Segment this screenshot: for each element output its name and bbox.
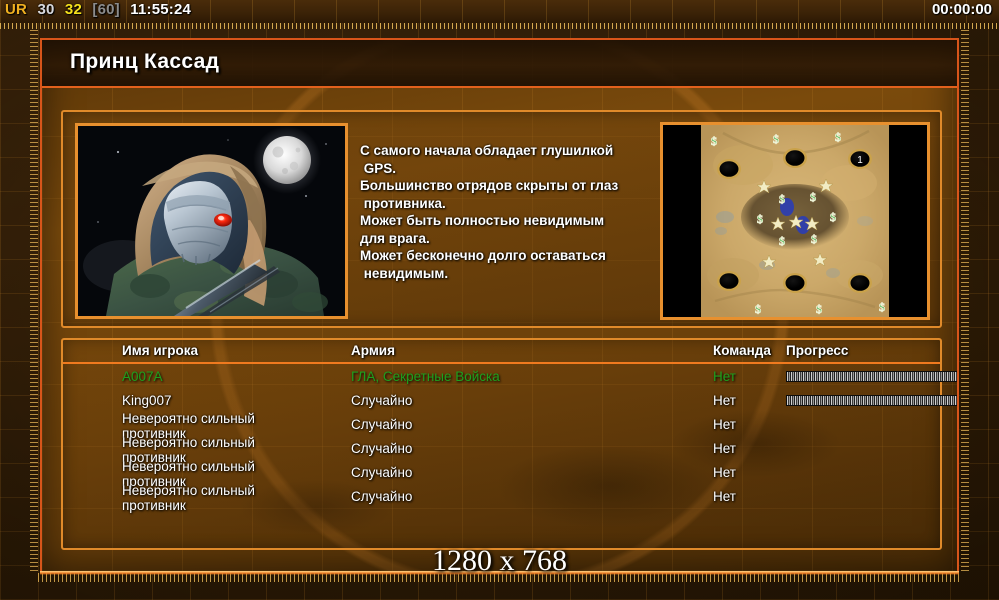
page-title: Принц Кассад: [70, 50, 219, 74]
cell-army: Случайно: [351, 465, 412, 480]
top-ruler-decoration: [0, 23, 999, 29]
svg-text:$: $: [810, 190, 816, 204]
svg-text:$: $: [830, 210, 836, 224]
cell-army: Случайно: [351, 441, 412, 456]
general-description: С самого начала обладает глушилкой GPS. …: [360, 142, 660, 282]
description-line: Может быть полностью невидимым: [360, 212, 660, 230]
right-ruler-decoration: [961, 29, 969, 571]
svg-text:$: $: [779, 234, 785, 248]
description-line: для врага.: [360, 230, 660, 248]
elapsed-timer: 00:00:00: [932, 1, 992, 18]
system-clock: 11:55:24: [130, 1, 191, 18]
description-line: GPS.: [360, 160, 660, 178]
svg-text:$: $: [835, 130, 841, 144]
svg-text:$: $: [811, 232, 817, 246]
svg-text:$: $: [879, 300, 885, 314]
svg-text:$: $: [755, 302, 761, 316]
ur-label: UR: [5, 1, 27, 18]
header-player-name: Имя игрока: [122, 343, 198, 358]
cell-team: Нет: [713, 417, 736, 432]
general-info-panel: С самого начала обладает глушилкой GPS. …: [61, 110, 942, 328]
header-army: Армия: [351, 343, 395, 358]
loading-window: Принц Кассад: [40, 38, 959, 573]
svg-text:$: $: [816, 302, 822, 316]
cell-team: Нет: [713, 369, 736, 384]
window-titlebar: Принц Кассад: [42, 40, 957, 88]
player-list-panel: Имя игрока Армия Команда Прогресс A007AГ…: [61, 338, 942, 550]
player-table-header: Имя игрока Армия Команда Прогресс: [63, 340, 940, 364]
left-ruler-decoration: [30, 29, 38, 571]
description-line: противника.: [360, 195, 660, 213]
svg-text:$: $: [757, 212, 763, 226]
start-position-number: 1: [857, 155, 863, 166]
progress-bar: [786, 395, 959, 406]
table-row[interactable]: Невероятно сильный противникСлучайноНет: [63, 486, 940, 510]
general-portrait: [75, 123, 348, 319]
description-line: Может бесконечно долго оставаться: [360, 247, 660, 265]
table-row[interactable]: A007AГЛА, Секретные ВойскаНет: [63, 366, 940, 390]
svg-text:$: $: [779, 192, 785, 206]
top-status-bar: UR 30 32 [60] 11:55:24 00:00:00: [0, 0, 999, 23]
header-progress: Прогресс: [786, 343, 848, 358]
cell-team: Нет: [713, 465, 736, 480]
description-line: С самого начала обладает глушилкой: [360, 142, 660, 160]
description-line: Большинство отрядов скрыты от глаз: [360, 177, 660, 195]
stat-value-3: [60]: [92, 1, 119, 18]
stat-value-2: 32: [65, 1, 82, 18]
cell-team: Нет: [713, 489, 736, 504]
header-team: Команда: [713, 343, 771, 358]
stat-value-1: 30: [37, 1, 54, 18]
description-line: невидимым.: [360, 265, 660, 283]
network-status-readout: UR 30 32 [60] 11:55:24: [5, 1, 197, 18]
game-loading-screen: UR 30 32 [60] 11:55:24 00:00:00 Принц Ка…: [0, 0, 999, 600]
player-table-body: A007AГЛА, Секретные ВойскаНетKing007Случ…: [63, 366, 940, 510]
cell-player-name: Невероятно сильный противник: [122, 483, 322, 513]
cell-player-name: A007A: [122, 369, 322, 384]
progress-bar-fill: [787, 372, 959, 381]
svg-text:$: $: [773, 132, 779, 146]
cell-army: Случайно: [351, 417, 412, 432]
cell-player-name: King007: [122, 393, 322, 408]
resolution-label: 1280 x 768: [0, 544, 999, 578]
cell-army: ГЛА, Секретные Войска: [351, 369, 500, 384]
cell-team: Нет: [713, 441, 736, 456]
svg-text:$: $: [711, 134, 717, 148]
map-preview: 1 $ $ $ $ $ $ $ $ $ $ $ $: [660, 122, 930, 320]
progress-bar: [786, 371, 959, 382]
cell-army: Случайно: [351, 489, 412, 504]
cell-team: Нет: [713, 393, 736, 408]
cell-army: Случайно: [351, 393, 412, 408]
progress-bar-fill: [787, 396, 959, 405]
